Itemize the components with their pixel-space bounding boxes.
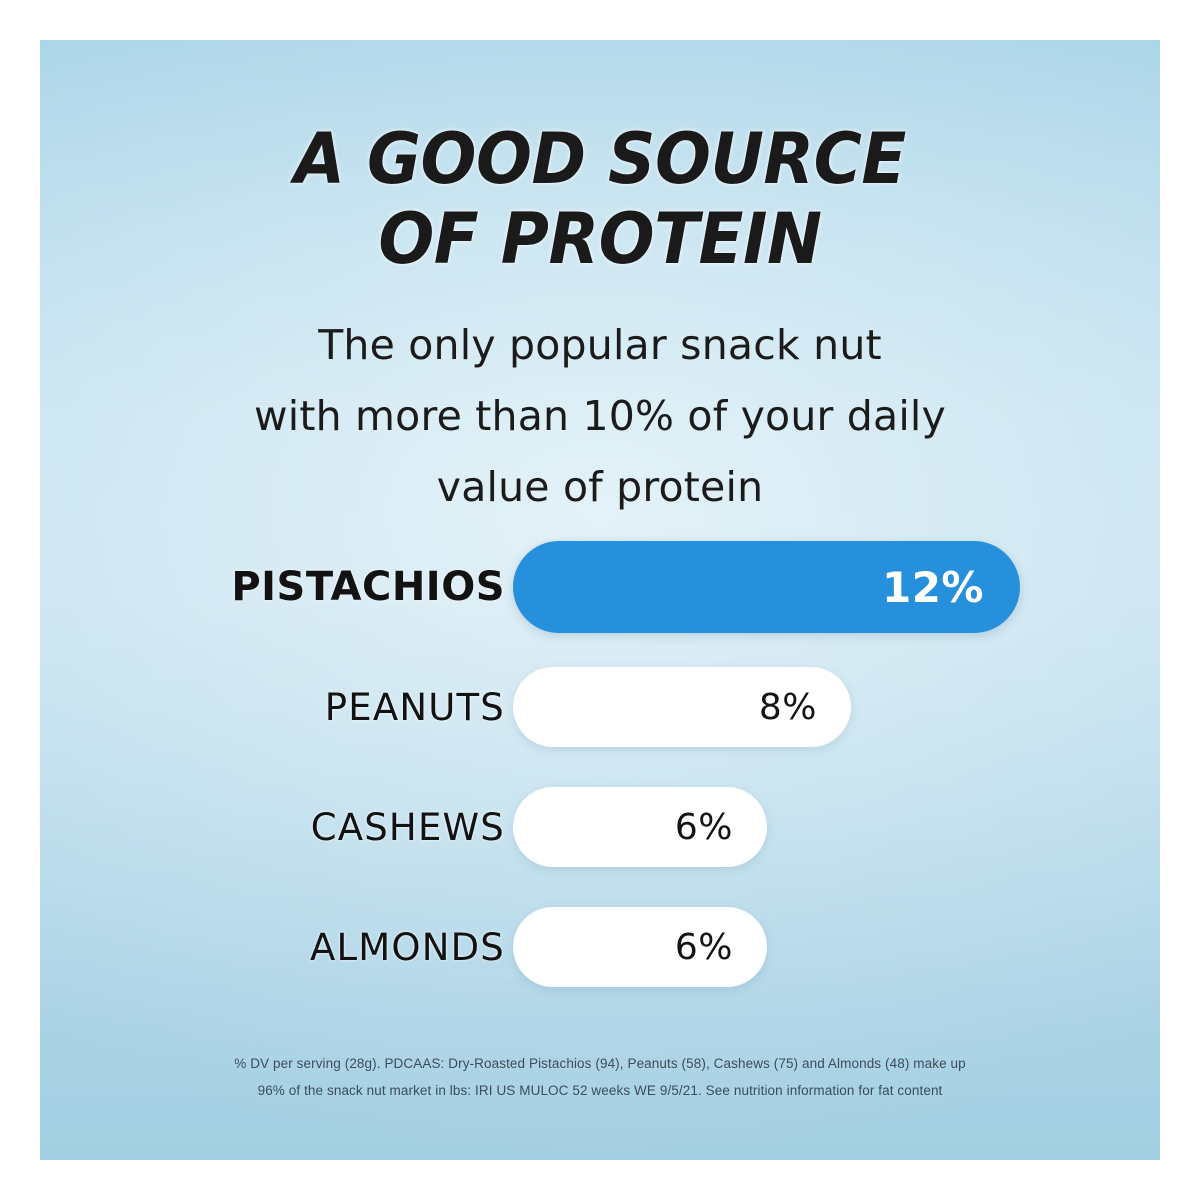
footnote-line-2: 96% of the snack nut market in lbs: IRI … [40, 1077, 1160, 1104]
bar-cashews: 6% [513, 787, 767, 867]
footnote: % DV per serving (28g). PDCAAS: Dry-Roas… [40, 1050, 1160, 1104]
bar-value-pistachios: 12% [882, 563, 1020, 612]
headline-line-2: OF PROTEIN [74, 205, 1127, 274]
bar-label-pistachios: PISTACHIOS [231, 564, 505, 610]
headline-line-1: A GOOD SOURCE [74, 125, 1127, 194]
bar-label-cashews: CASHEWS [311, 806, 505, 849]
chart-row: ALMONDS 6% [40, 887, 1160, 1007]
bar-value-almonds: 6% [675, 927, 767, 968]
bar-label-almonds: ALMONDS [310, 926, 505, 969]
subtitle-line-1: The only popular snack nut [40, 310, 1160, 381]
subtitle: The only popular snack nut with more tha… [40, 310, 1160, 523]
subtitle-line-2: with more than 10% of your daily [40, 381, 1160, 452]
infographic-panel: A GOOD SOURCE OF PROTEIN The only popula… [40, 40, 1160, 1160]
protein-bar-chart: PISTACHIOS 12% PEANUTS 8% CASHEWS [40, 527, 1160, 1007]
bar-value-cashews: 6% [675, 807, 767, 848]
subtitle-line-3: value of protein [40, 452, 1160, 523]
infographic-canvas: A GOOD SOURCE OF PROTEIN The only popula… [0, 0, 1200, 1200]
bar-value-peanuts: 8% [759, 687, 851, 728]
chart-row: CASHEWS 6% [40, 767, 1160, 887]
chart-row: PEANUTS 8% [40, 647, 1160, 767]
bar-label-peanuts: PEANUTS [325, 686, 505, 729]
bar-almonds: 6% [513, 907, 767, 987]
bar-peanuts: 8% [513, 667, 851, 747]
footnote-line-1: % DV per serving (28g). PDCAAS: Dry-Roas… [40, 1050, 1160, 1077]
bar-pistachios: 12% [513, 541, 1020, 633]
chart-row: PISTACHIOS 12% [40, 527, 1160, 647]
